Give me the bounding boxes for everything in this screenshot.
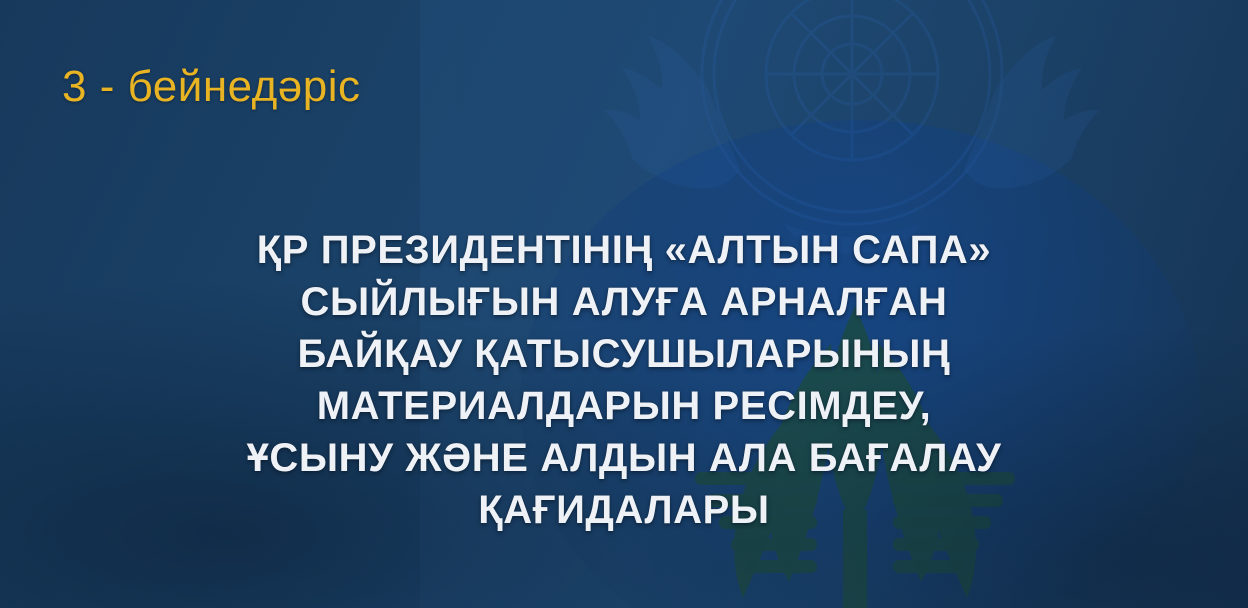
title-line-3: БАЙҚАУ ҚАТЫСУШЫЛАРЫНЫҢ bbox=[0, 328, 1248, 380]
slide-canvas: 3 - бейнедәріс ҚР ПРЕЗИДЕНТІНІҢ «АЛТЫН С… bbox=[0, 0, 1248, 608]
title-line-5: ҰСЫНУ ЖӘНЕ АЛДЫН АЛА БАҒАЛАУ bbox=[0, 432, 1248, 484]
title-line-4: МАТЕРИАЛДАРЫН РЕСІМДЕУ, bbox=[0, 380, 1248, 432]
title-line-1: ҚР ПРЕЗИДЕНТІНІҢ «АЛТЫН САПА» bbox=[0, 224, 1248, 276]
title-line-2: СЫЙЛЫҒЫН АЛУҒА АРНАЛҒАН bbox=[0, 276, 1248, 328]
slide-title: ҚР ПРЕЗИДЕНТІНІҢ «АЛТЫН САПА» СЫЙЛЫҒЫН А… bbox=[0, 224, 1248, 536]
title-line-6: ҚАҒИДАЛАРЫ bbox=[0, 484, 1248, 536]
lecture-number-label: 3 - бейнедәріс bbox=[62, 62, 361, 112]
slide-content: 3 - бейнедәріс ҚР ПРЕЗИДЕНТІНІҢ «АЛТЫН С… bbox=[0, 0, 1248, 608]
